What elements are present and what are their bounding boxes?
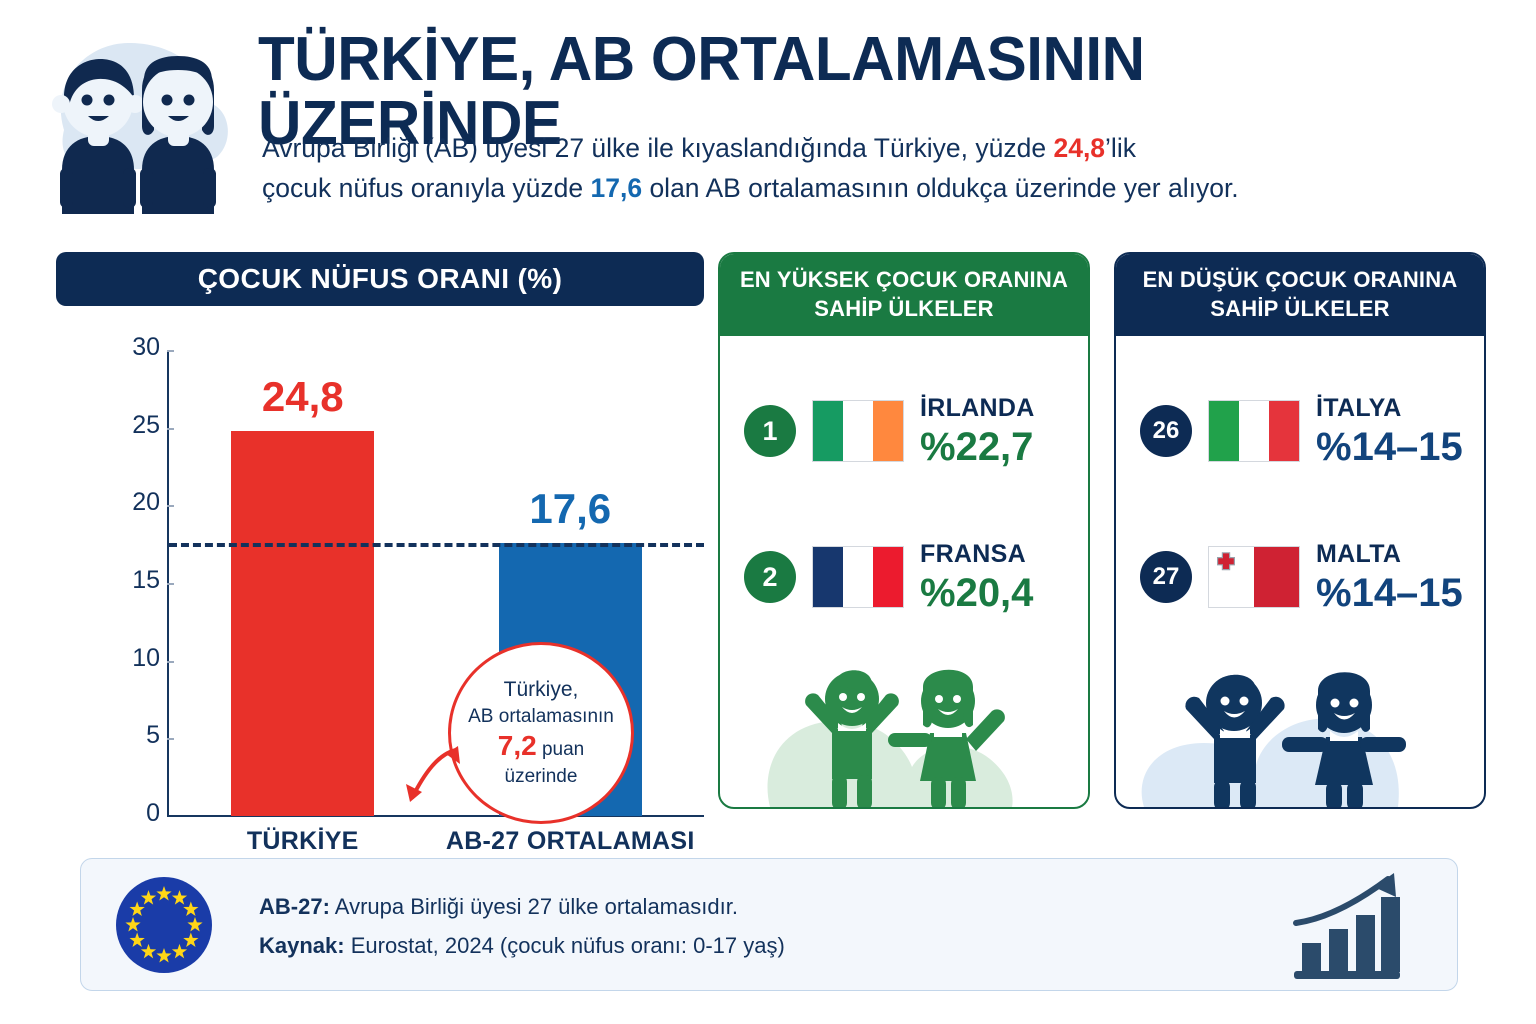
ireland-flag [812, 400, 904, 462]
lowest-card-title-bar: EN DÜŞÜK ÇOCUK ORANINA SAHİP ÜLKELER [1114, 252, 1486, 336]
callout-line-1: Türkiye, [504, 676, 579, 703]
hero-children-illustration [30, 18, 245, 218]
lowest-card-title: EN DÜŞÜK ÇOCUK ORANINA SAHİP ÜLKELER [1114, 265, 1486, 323]
list-item[interactable]: 27 MALTA %14–15 [1116, 522, 1486, 632]
malta-flag [1208, 546, 1300, 608]
list-item[interactable]: 1 İRLANDA %22,7 [720, 376, 1090, 486]
bar-turkiye [231, 431, 374, 816]
list-item[interactable]: 26 İTALYA %14–15 [1116, 376, 1486, 486]
subtitle-text-3: çocuk nüfus oranıyla yüzde [262, 173, 591, 203]
italy-flag [1208, 400, 1300, 462]
rank-badge: 1 [744, 405, 796, 457]
country-info: İRLANDA %22,7 [920, 394, 1035, 469]
subtitle-highlight-eu: 17,6 [591, 173, 643, 203]
y-axis-tick-label: 10 [114, 644, 160, 673]
country-name: FRANSA [920, 540, 1033, 569]
green-children-illustration [720, 647, 1090, 807]
malta-cross-icon [1214, 552, 1238, 576]
highest-card-title-bar: EN YÜKSEK ÇOCUK ORANINA SAHİP ÜLKELER [718, 252, 1090, 336]
y-axis-tick-label: 30 [114, 333, 160, 362]
country-value: %22,7 [920, 425, 1035, 469]
callout-line-2: AB ortalamasının [468, 703, 614, 730]
rank-badge: 2 [744, 551, 796, 603]
callout-value: 7,2 [498, 730, 537, 761]
y-axis-tick-label: 25 [114, 411, 160, 440]
rank-badge: 26 [1140, 405, 1192, 457]
footer-note: AB-27: Avrupa Birliği üyesi 27 ülke orta… [80, 858, 1458, 991]
country-name: İRLANDA [920, 394, 1035, 423]
rank-badge: 27 [1140, 551, 1192, 603]
x-axis-label: AB-27 ORTALAMASI [420, 827, 720, 856]
y-axis-tick-label: 0 [114, 799, 160, 828]
growth-chart-icon [1284, 871, 1409, 981]
y-axis-tick-label: 20 [114, 488, 160, 517]
highest-card-title: EN YÜKSEK ÇOCUK ORANINA SAHİP ÜLKELER [718, 265, 1090, 323]
chart-plot-area: 051015202530 24,817,6 Türkiye, AB ortala… [56, 322, 704, 832]
footer-text: AB-27: Avrupa Birliği üyesi 27 ülke orta… [259, 887, 785, 965]
country-value: %14–15 [1316, 425, 1463, 469]
callout-line-3: 7,2 puan [498, 732, 584, 763]
list-item[interactable]: 2 FRANSA %20,4 [720, 522, 1090, 632]
country-name: MALTA [1316, 540, 1463, 569]
reference-line [169, 543, 704, 547]
header: TÜRKİYE, AB ORTALAMASININ ÜZERİNDE Avrup… [0, 0, 1536, 232]
highest-child-rate-card: EN YÜKSEK ÇOCUK ORANINA SAHİP ÜLKELER 1 … [718, 252, 1090, 809]
callout-arrow-icon [386, 740, 476, 830]
x-axis-label: TÜRKİYE [153, 827, 453, 856]
chart-title: ÇOCUK NÜFUS ORANI (%) [198, 263, 563, 295]
lowest-child-rate-card: EN DÜŞÜK ÇOCUK ORANINA SAHİP ÜLKELER 26 … [1114, 252, 1486, 809]
infographic-page: TÜRKİYE, AB ORTALAMASININ ÜZERİNDE Avrup… [0, 0, 1536, 1024]
page-subtitle: Avrupa Birliği (AB) üyesi 27 ülke ile kı… [262, 128, 1452, 208]
chart-panel: ÇOCUK NÜFUS ORANI (%) 051015202530 24,81… [56, 252, 704, 832]
bar-value-label: 24,8 [213, 373, 393, 421]
france-flag [812, 546, 904, 608]
subtitle-text-4: olan AB ortalamasının oldukça üzerinde y… [642, 173, 1239, 203]
footer-value-ab27: Avrupa Birliği üyesi 27 ülke ortalamasıd… [330, 894, 738, 919]
country-info: FRANSA %20,4 [920, 540, 1033, 615]
y-axis-tick-label: 5 [114, 721, 160, 750]
subtitle-text-1: Avrupa Birliği (AB) üyesi 27 ülke ile kı… [262, 133, 1053, 163]
country-value: %20,4 [920, 571, 1033, 615]
bar-value-label: 17,6 [480, 485, 660, 533]
country-info: MALTA %14–15 [1316, 540, 1463, 615]
country-value: %14–15 [1316, 571, 1463, 615]
subtitle-highlight-turkey: 24,8 [1053, 133, 1105, 163]
y-axis-tick-label: 15 [114, 566, 160, 595]
navy-children-illustration [1116, 647, 1486, 807]
country-info: İTALYA %14–15 [1316, 394, 1463, 469]
footer-line-2: Kaynak: Eurostat, 2024 (çocuk nüfus oran… [259, 926, 785, 965]
chart-title-bar: ÇOCUK NÜFUS ORANI (%) [56, 252, 704, 306]
footer-label-source: Kaynak: [259, 933, 345, 958]
callout-line-4: üzerinde [505, 763, 578, 790]
subtitle-text-2: ’lik [1105, 133, 1136, 163]
country-name: İTALYA [1316, 394, 1463, 423]
footer-value-source: Eurostat, 2024 (çocuk nüfus oranı: 0-17 … [345, 933, 785, 958]
y-axis-ticks: 051015202530 [100, 350, 160, 816]
callout-unit: puan [537, 739, 585, 760]
eu-flag-icon [114, 875, 214, 975]
footer-label-ab27: AB-27: [259, 894, 330, 919]
footer-line-1: AB-27: Avrupa Birliği üyesi 27 ülke orta… [259, 887, 785, 926]
